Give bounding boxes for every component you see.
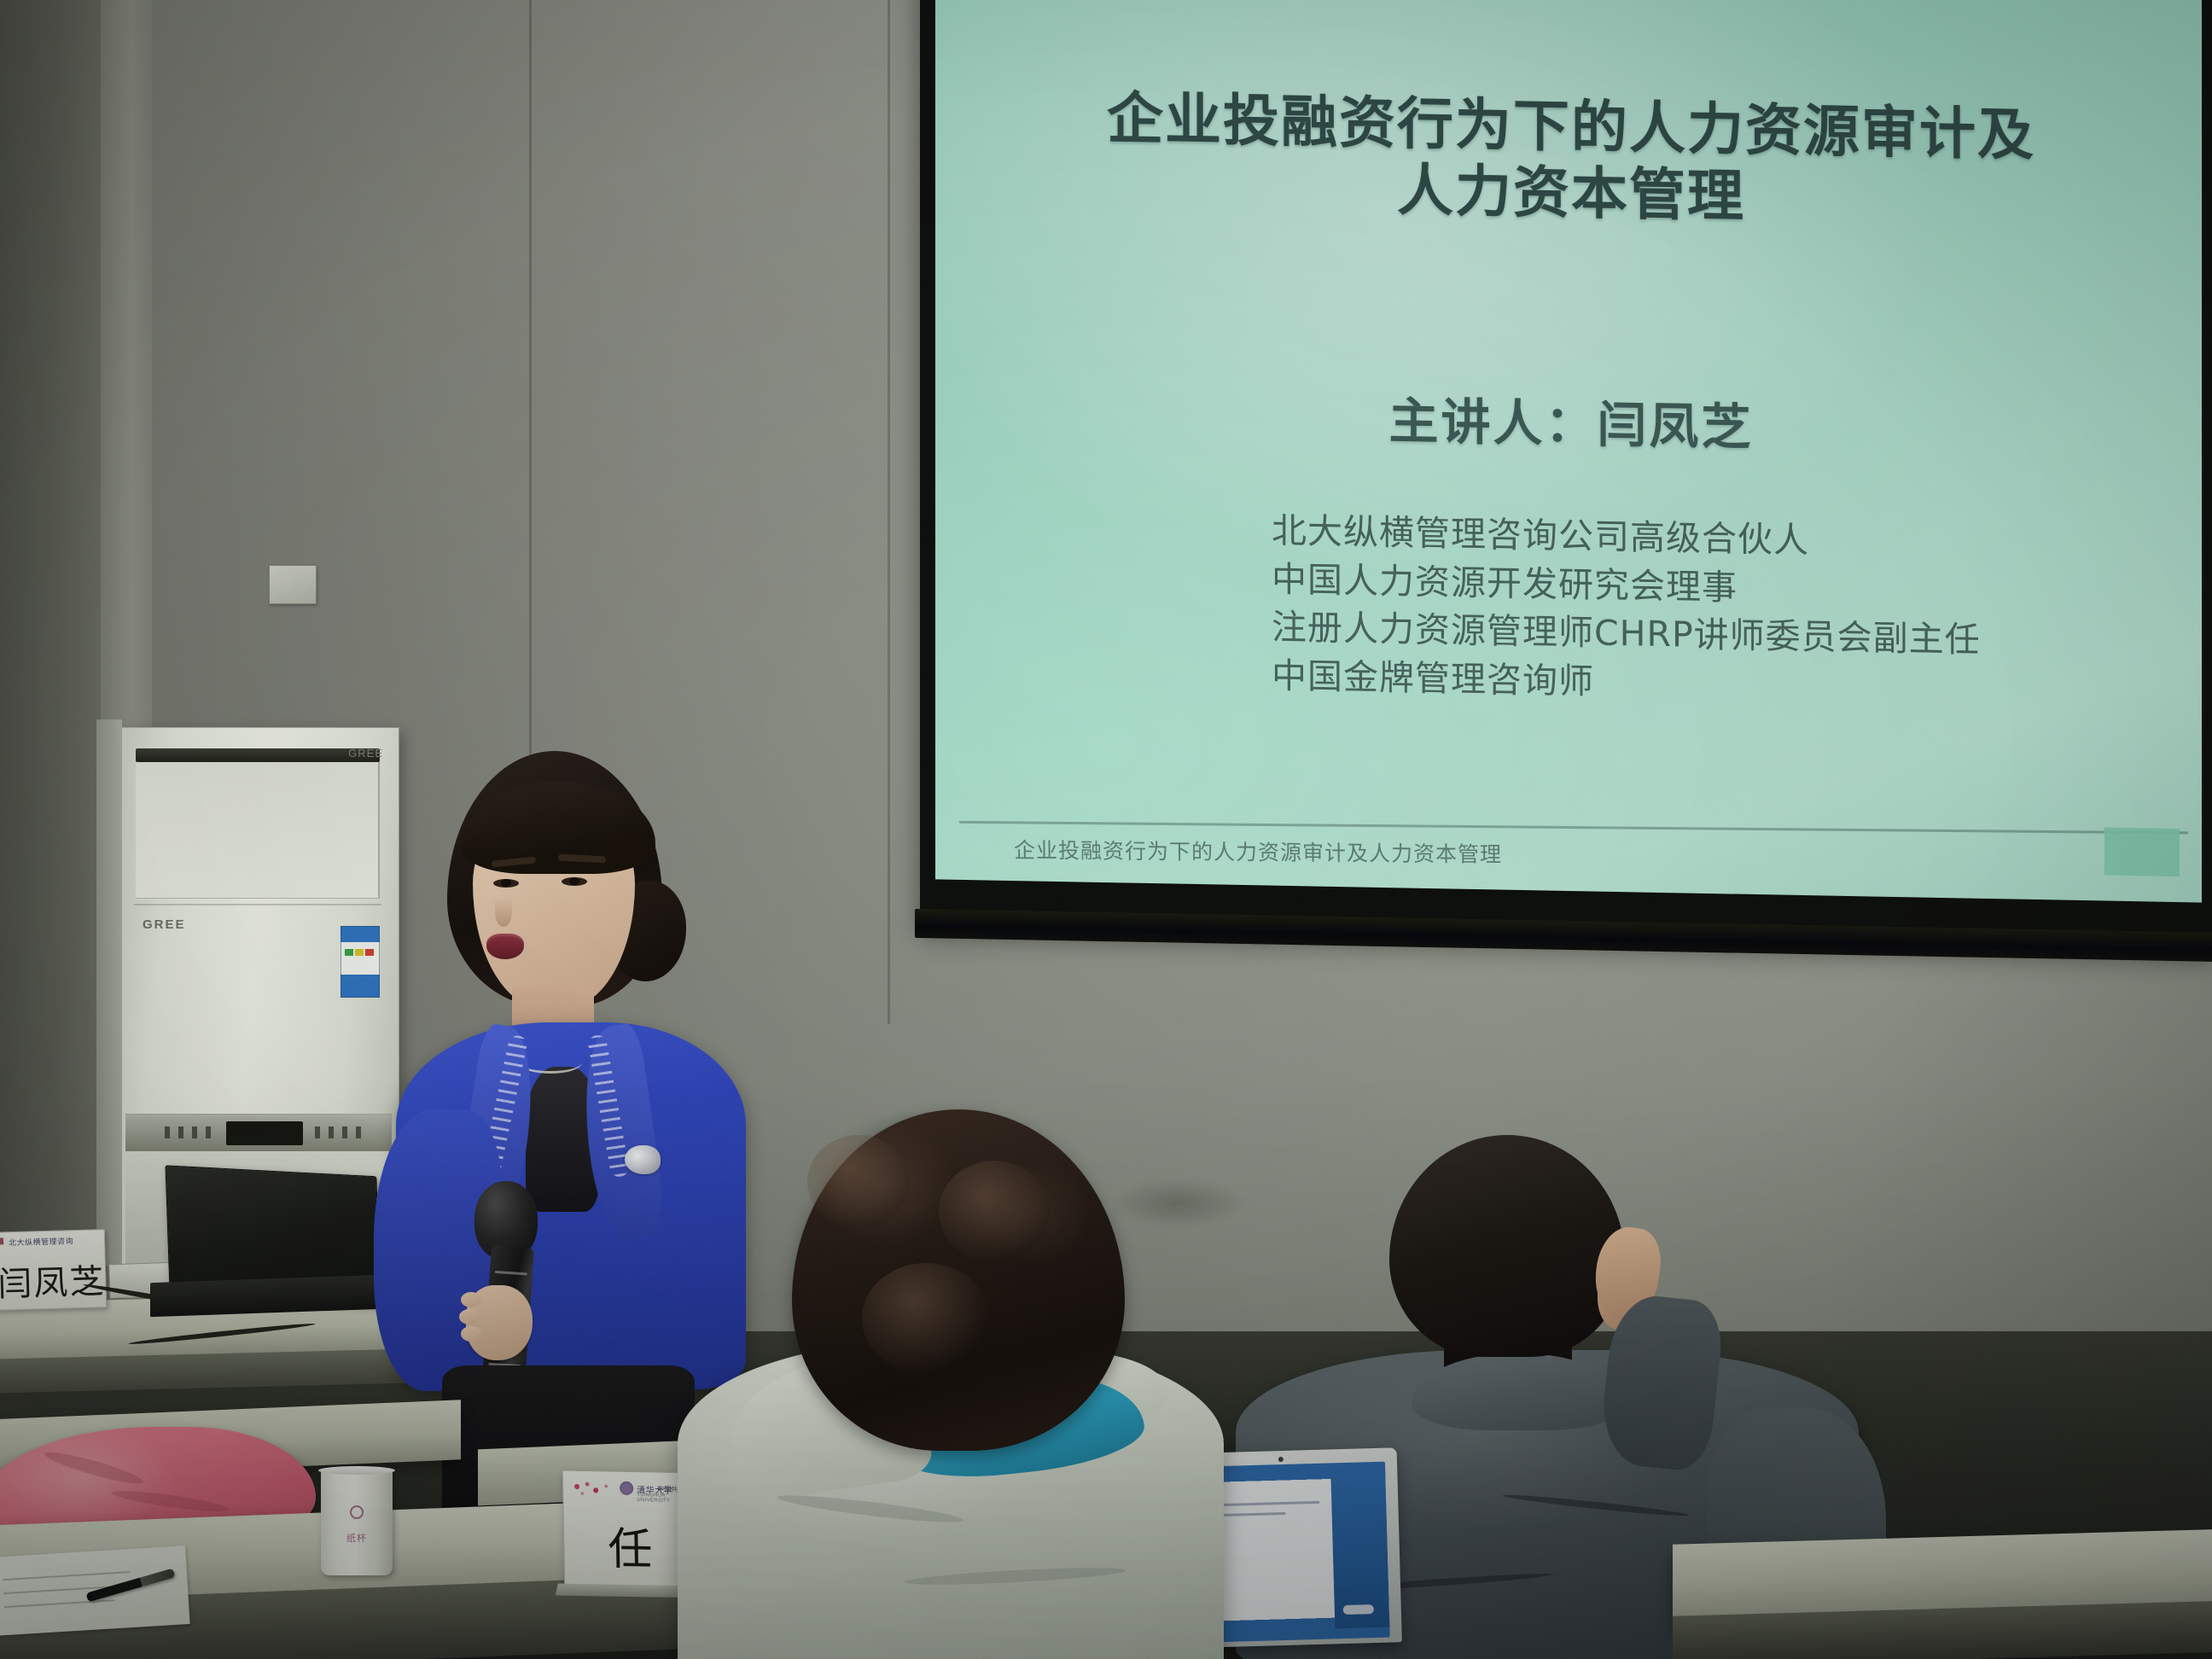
presenter-name-card-brand: 北大纵横管理咨询 [9,1235,73,1248]
wall-left-panel [0,0,102,1434]
wall-switch-plate[interactable] [269,565,317,604]
slide-title: 企业投融资行为下的人力资源审计及 人力资本管理 [1038,84,2104,237]
attendee-right-head [1389,1135,1625,1357]
ac-button-8[interactable] [356,1126,361,1138]
projection-screen-frame: 企业投融资行为下的人力资源审计及 人力资本管理 主讲人：闫凤芝 北大纵横管理咨询… [920,0,2212,948]
air-conditioner-control-strip[interactable] [125,1114,392,1151]
presenter-finger [461,1292,481,1307]
floral-decoration-icon [570,1480,614,1499]
presenter-hand [466,1285,533,1360]
wall-seam [888,0,890,1024]
hair-curl [862,1263,990,1374]
energy-bar-red [365,949,374,956]
laptop-screen-button[interactable] [1343,1604,1374,1615]
ac-button-1[interactable] [165,1126,170,1138]
coat-fold [111,1487,231,1515]
paper-cup-label: 纸杯 [321,1531,393,1545]
slide-presenter-line: 主讲人：闫凤芝 [1038,375,2104,466]
energy-bar-green [345,949,353,956]
photo-scene: 企业投融资行为下的人力资源审计及 人力资本管理 主讲人：闫凤芝 北大纵横管理咨询… [0,0,2212,1659]
ac-button-2[interactable] [178,1126,183,1138]
name-card-logo-icon [0,1237,3,1244]
laptop-screen-side-panel[interactable] [1331,1477,1390,1629]
webcam-icon [1278,1457,1284,1462]
presenter-eye-left [493,879,519,888]
presenter-eye-right [562,877,587,886]
attendee-front-left [649,1109,1263,1659]
ac-button-4[interactable] [206,1126,211,1138]
paper-cup[interactable]: 纸杯 [321,1470,393,1575]
ac-button-3[interactable] [192,1126,197,1138]
microphone-highlight [495,1271,527,1276]
presenter-finger [461,1326,481,1342]
university-logo-icon [620,1481,633,1495]
presenter-name-card-text: 闫凤芝 [0,1254,116,1307]
presenter-finger [459,1309,480,1324]
paper-cup-logo-icon [350,1505,364,1519]
projection-screen-surface: 企业投融资行为下的人力资源审计及 人力资本管理 主讲人：闫凤芝 北大纵横管理咨询… [935,0,2202,903]
paper-rule [4,1599,115,1608]
air-conditioner-side [96,719,122,1266]
ac-button-7[interactable] [342,1126,347,1138]
slide-footer-rule [959,821,2188,835]
presenter-mouth [486,934,524,959]
presenter-nose [495,898,512,927]
coat-fold [43,1447,145,1488]
slide-page-number-box [2104,828,2180,877]
hair-curl [807,1135,910,1229]
hair-curl [939,1161,1050,1263]
ac-button-6[interactable] [329,1126,334,1138]
air-conditioner-air-grill [136,748,380,762]
presenter-name-card: 北大纵横管理咨询 闫凤芝 [0,1229,107,1311]
paper-rule [3,1571,131,1580]
ac-button-5[interactable] [315,1126,320,1138]
slide-credits-list: 北大纵横管理咨询公司高级合伙人 中国人力资源开发研究会理事 注册人力资源管理师C… [1272,507,2125,716]
slide-footer-text: 企业投融资行为下的人力资源审计及人力资本管理 [1014,834,1502,869]
energy-bar-yellow [355,949,364,956]
energy-efficiency-label [341,926,380,998]
air-conditioner-front-panel [136,762,380,899]
air-conditioner-seam [134,904,381,905]
air-conditioner-brand: GREE [143,917,186,932]
slide-page-number [2104,841,2180,843]
ac-display [226,1121,303,1145]
